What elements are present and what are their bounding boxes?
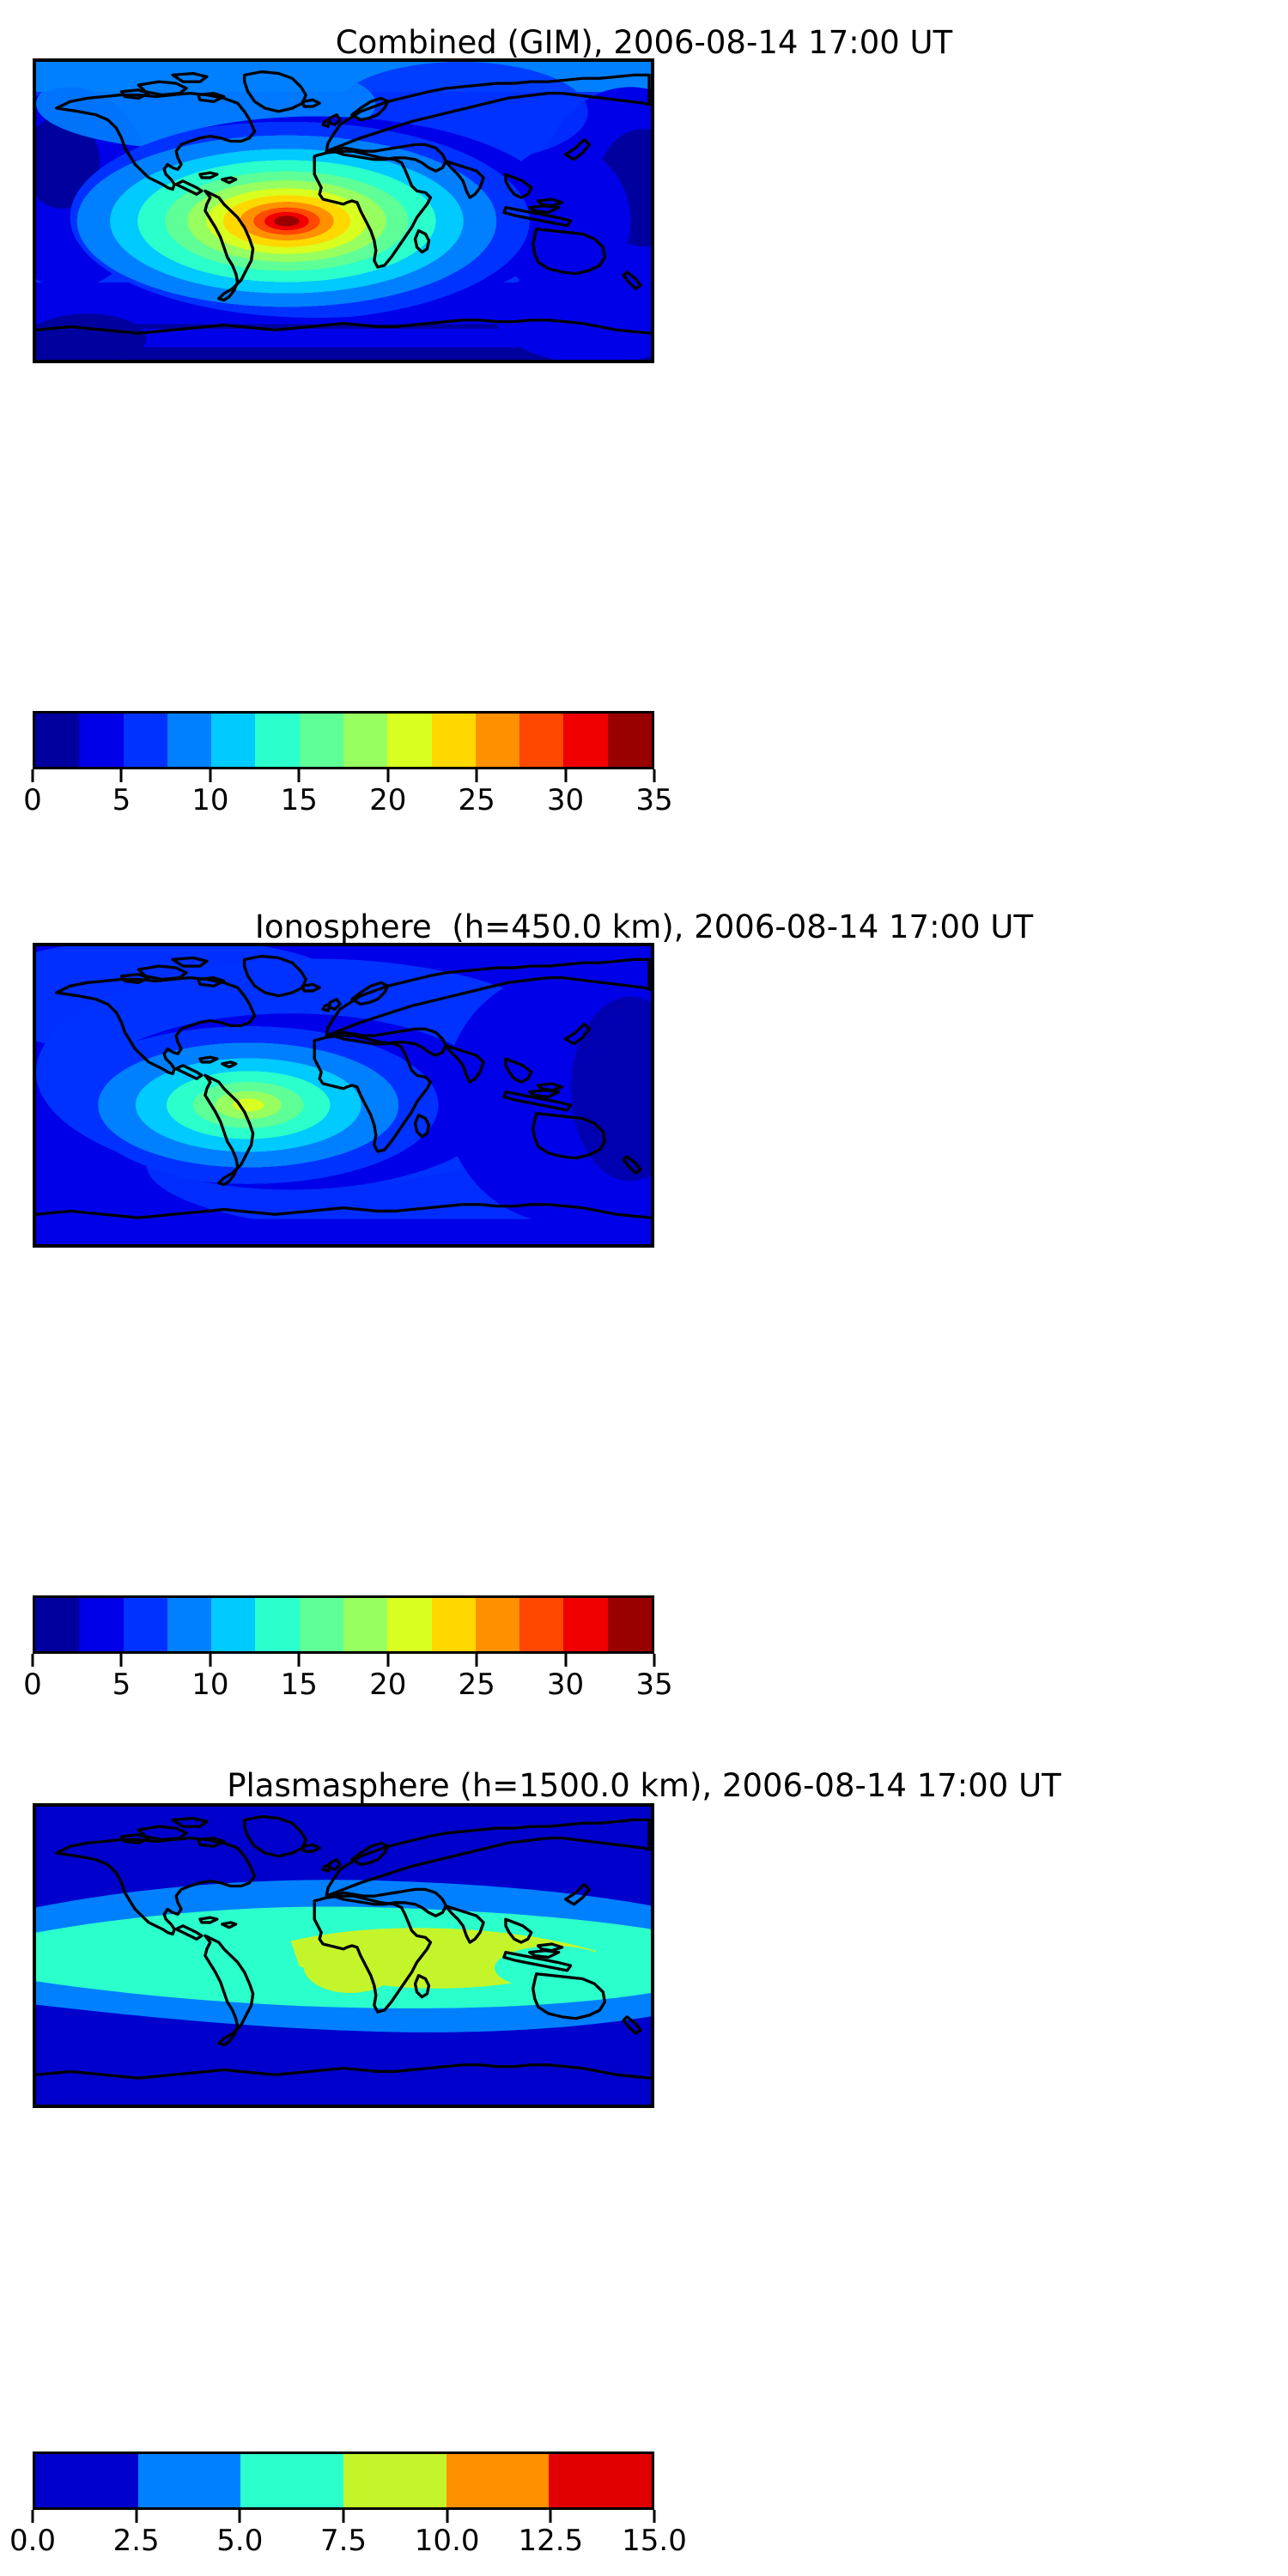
colorbar-plasmasphere-bar <box>33 2451 654 2510</box>
cbar-tick-label: 30 <box>547 1668 584 1702</box>
map-ionosphere-450 <box>33 943 654 1248</box>
panel-title-ionosphere-450: Ionosphere (h=450.0 km), 2006-08-14 17:0… <box>0 908 1288 945</box>
panel-plasmasphere-1500: Plasmasphere (h=1500.0 km), 2006-08-14 1… <box>0 1769 1288 2576</box>
cbar-tick-label: 20 <box>369 783 406 817</box>
cbar-tick-label: 10 <box>191 783 228 817</box>
cbar-tick-label: 35 <box>635 1668 672 1702</box>
colorbar-ionosphere-450 <box>33 1595 654 1654</box>
cbar-tick-label: 7.5 <box>320 2524 367 2558</box>
colorbar-plasmasphere-1500 <box>33 2451 654 2510</box>
cbar-tick-label: 5 <box>112 783 131 817</box>
panel-title-plasmasphere-1500: Plasmasphere (h=1500.0 km), 2006-08-14 1… <box>0 1767 1288 1804</box>
cbar-tick-label: 10 <box>191 1668 228 1702</box>
cbar-tick-label: 0 <box>23 1668 42 1702</box>
cbar-tick-label: 10.0 <box>415 2524 480 2558</box>
cbar-tick-label: 0.0 <box>9 2524 56 2558</box>
colorbar-combined-gim <box>33 711 654 769</box>
coastlines-plasmasphere <box>36 1807 651 2105</box>
cbar-tick-label: 20 <box>369 1668 406 1702</box>
coastlines-combined <box>36 62 651 360</box>
colorbar-combined-labels: 0 5 10 15 20 25 30 35 <box>33 783 654 823</box>
cbar-tick-label: 15 <box>281 783 318 817</box>
map-plasmasphere-1500 <box>33 1803 654 2108</box>
cbar-tick-label: 12.5 <box>518 2524 583 2558</box>
cbar-tick-label: 15 <box>281 1668 318 1702</box>
cbar-tick-label: 0 <box>23 783 42 817</box>
colorbar-ionosphere-bar <box>33 1595 654 1654</box>
cbar-tick-label: 15.0 <box>622 2524 687 2558</box>
map-combined-gim <box>33 58 654 363</box>
colorbar-ionosphere-labels: 0 5 10 15 20 25 30 35 <box>33 1668 654 1707</box>
panel-combined-gim: Combined (GIM), 2006-08-14 17:00 UT <box>0 0 1288 884</box>
cbar-tick-label: 25 <box>459 783 495 817</box>
colorbar-plasmasphere-labels: 0.0 2.5 5.0 7.5 10.0 12.5 15.0 <box>33 2524 654 2563</box>
cbar-tick-label: 25 <box>459 1668 495 1702</box>
figure-canvas: Combined (GIM), 2006-08-14 17:00 UT <box>0 0 1288 2576</box>
cbar-tick-label: 2.5 <box>113 2524 160 2558</box>
coastlines-ionosphere <box>36 946 651 1244</box>
cbar-tick-label: 5.0 <box>216 2524 263 2558</box>
cbar-tick-label: 5 <box>112 1668 131 1702</box>
panel-title-combined-gim: Combined (GIM), 2006-08-14 17:00 UT <box>0 24 1288 61</box>
panel-ionosphere-450: Ionosphere (h=450.0 km), 2006-08-14 17:0… <box>0 884 1288 1769</box>
cbar-tick-label: 30 <box>547 783 584 817</box>
colorbar-combined-gim-bar <box>33 711 654 769</box>
cbar-tick-label: 35 <box>635 783 672 817</box>
